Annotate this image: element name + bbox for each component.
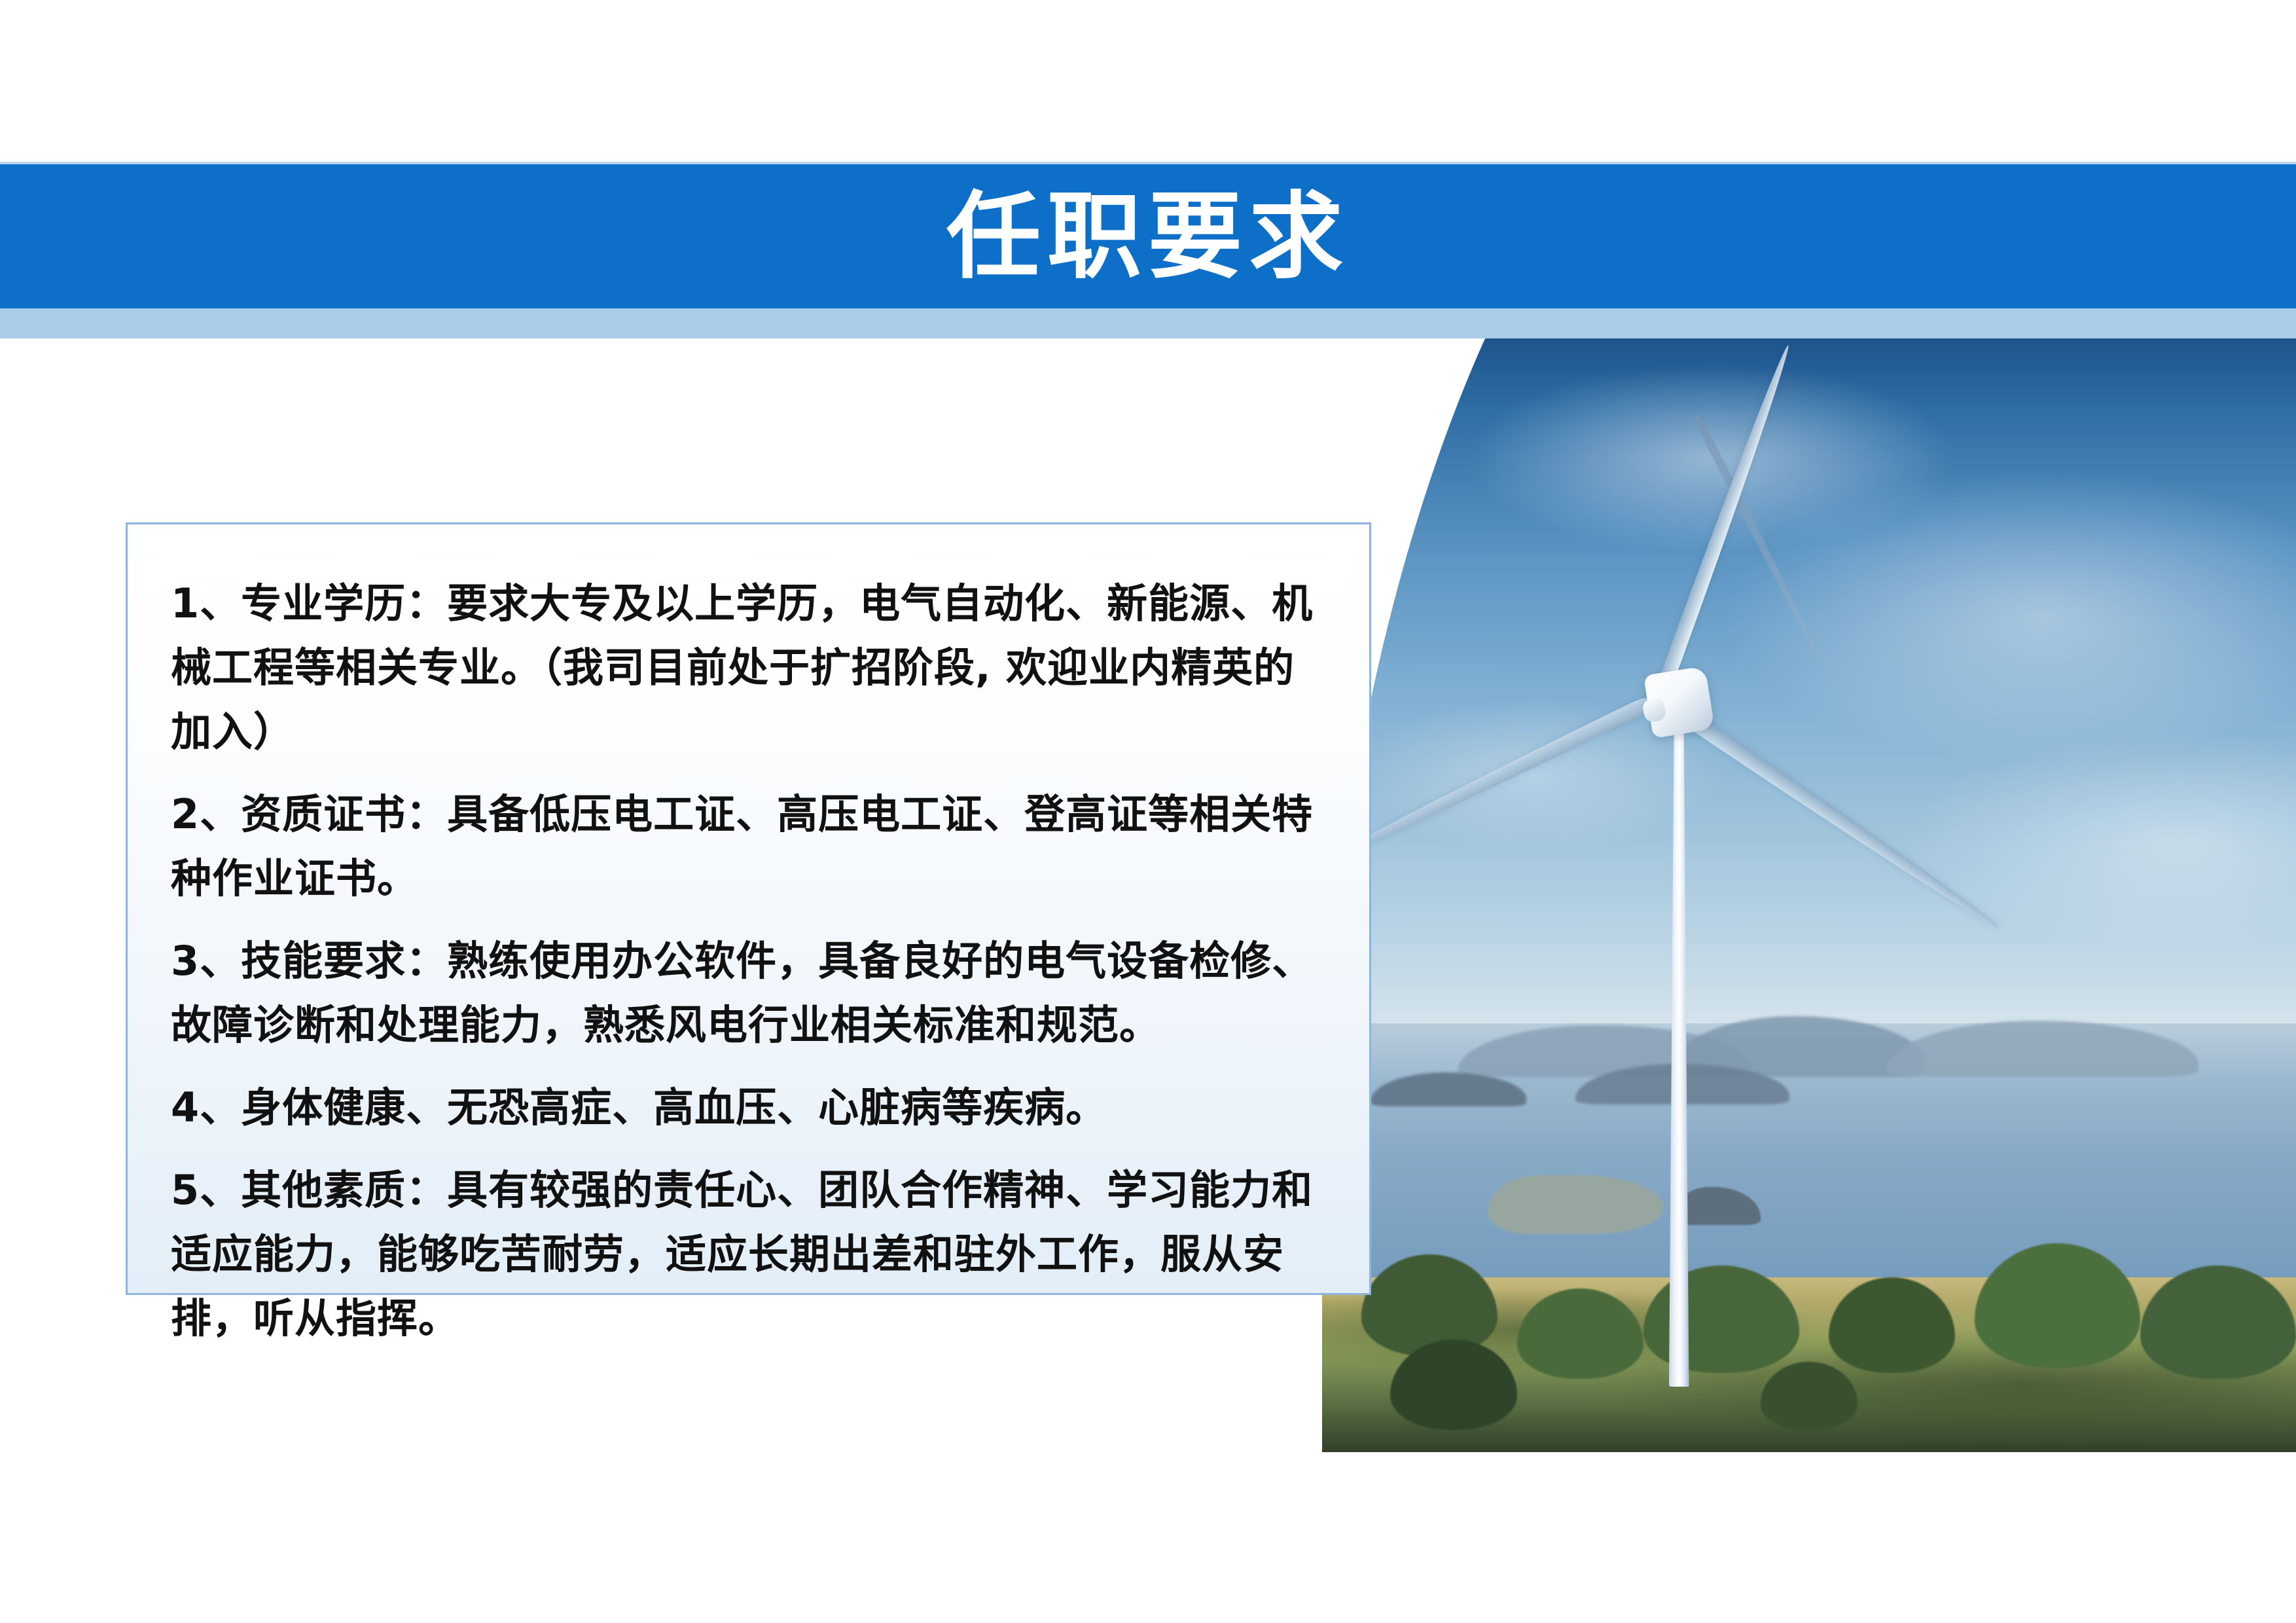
turbine-blade-right: [1657, 693, 2003, 934]
requirement-item-1: 1、专业学历：要求大专及以上学历，电气自动化、新能源、机械工程等相关专业。（我司…: [171, 572, 1326, 764]
turbine-tower: [1669, 709, 1689, 1387]
header-underline-band: [0, 308, 2296, 338]
requirement-item-4: 4、身体健康、无恐高症、高血压、心脏病等疾病。: [171, 1076, 1326, 1140]
requirement-item-3: 3、技能要求：熟练使用办公软件，具备良好的电气设备检修、故障诊断和处理能力，熟悉…: [171, 929, 1326, 1057]
wind-turbine: [1322, 323, 2296, 1452]
wind-turbine-photo: [1322, 323, 2296, 1452]
requirement-item-2: 2、资质证书：具备低压电工证、高压电工证、登高证等相关特种作业证书。: [171, 782, 1326, 911]
page-title: 任职要求: [0, 164, 2296, 308]
turbine-blade-upper: [1654, 342, 1795, 698]
turbine-blade-left: [1327, 693, 1659, 865]
requirements-textbox: 1、专业学历：要求大专及以上学历，电气自动化、新能源、机械工程等相关专业。（我司…: [126, 522, 1371, 1295]
requirement-item-5: 5、其他素质：具有较强的责任心、团队合作精神、学习能力和适应能力，能够吃苦耐劳，…: [171, 1158, 1326, 1351]
slide-canvas: 任职要求 1、专业学历：要求大专及以上学历，电气自动化、新: [0, 0, 2296, 1623]
